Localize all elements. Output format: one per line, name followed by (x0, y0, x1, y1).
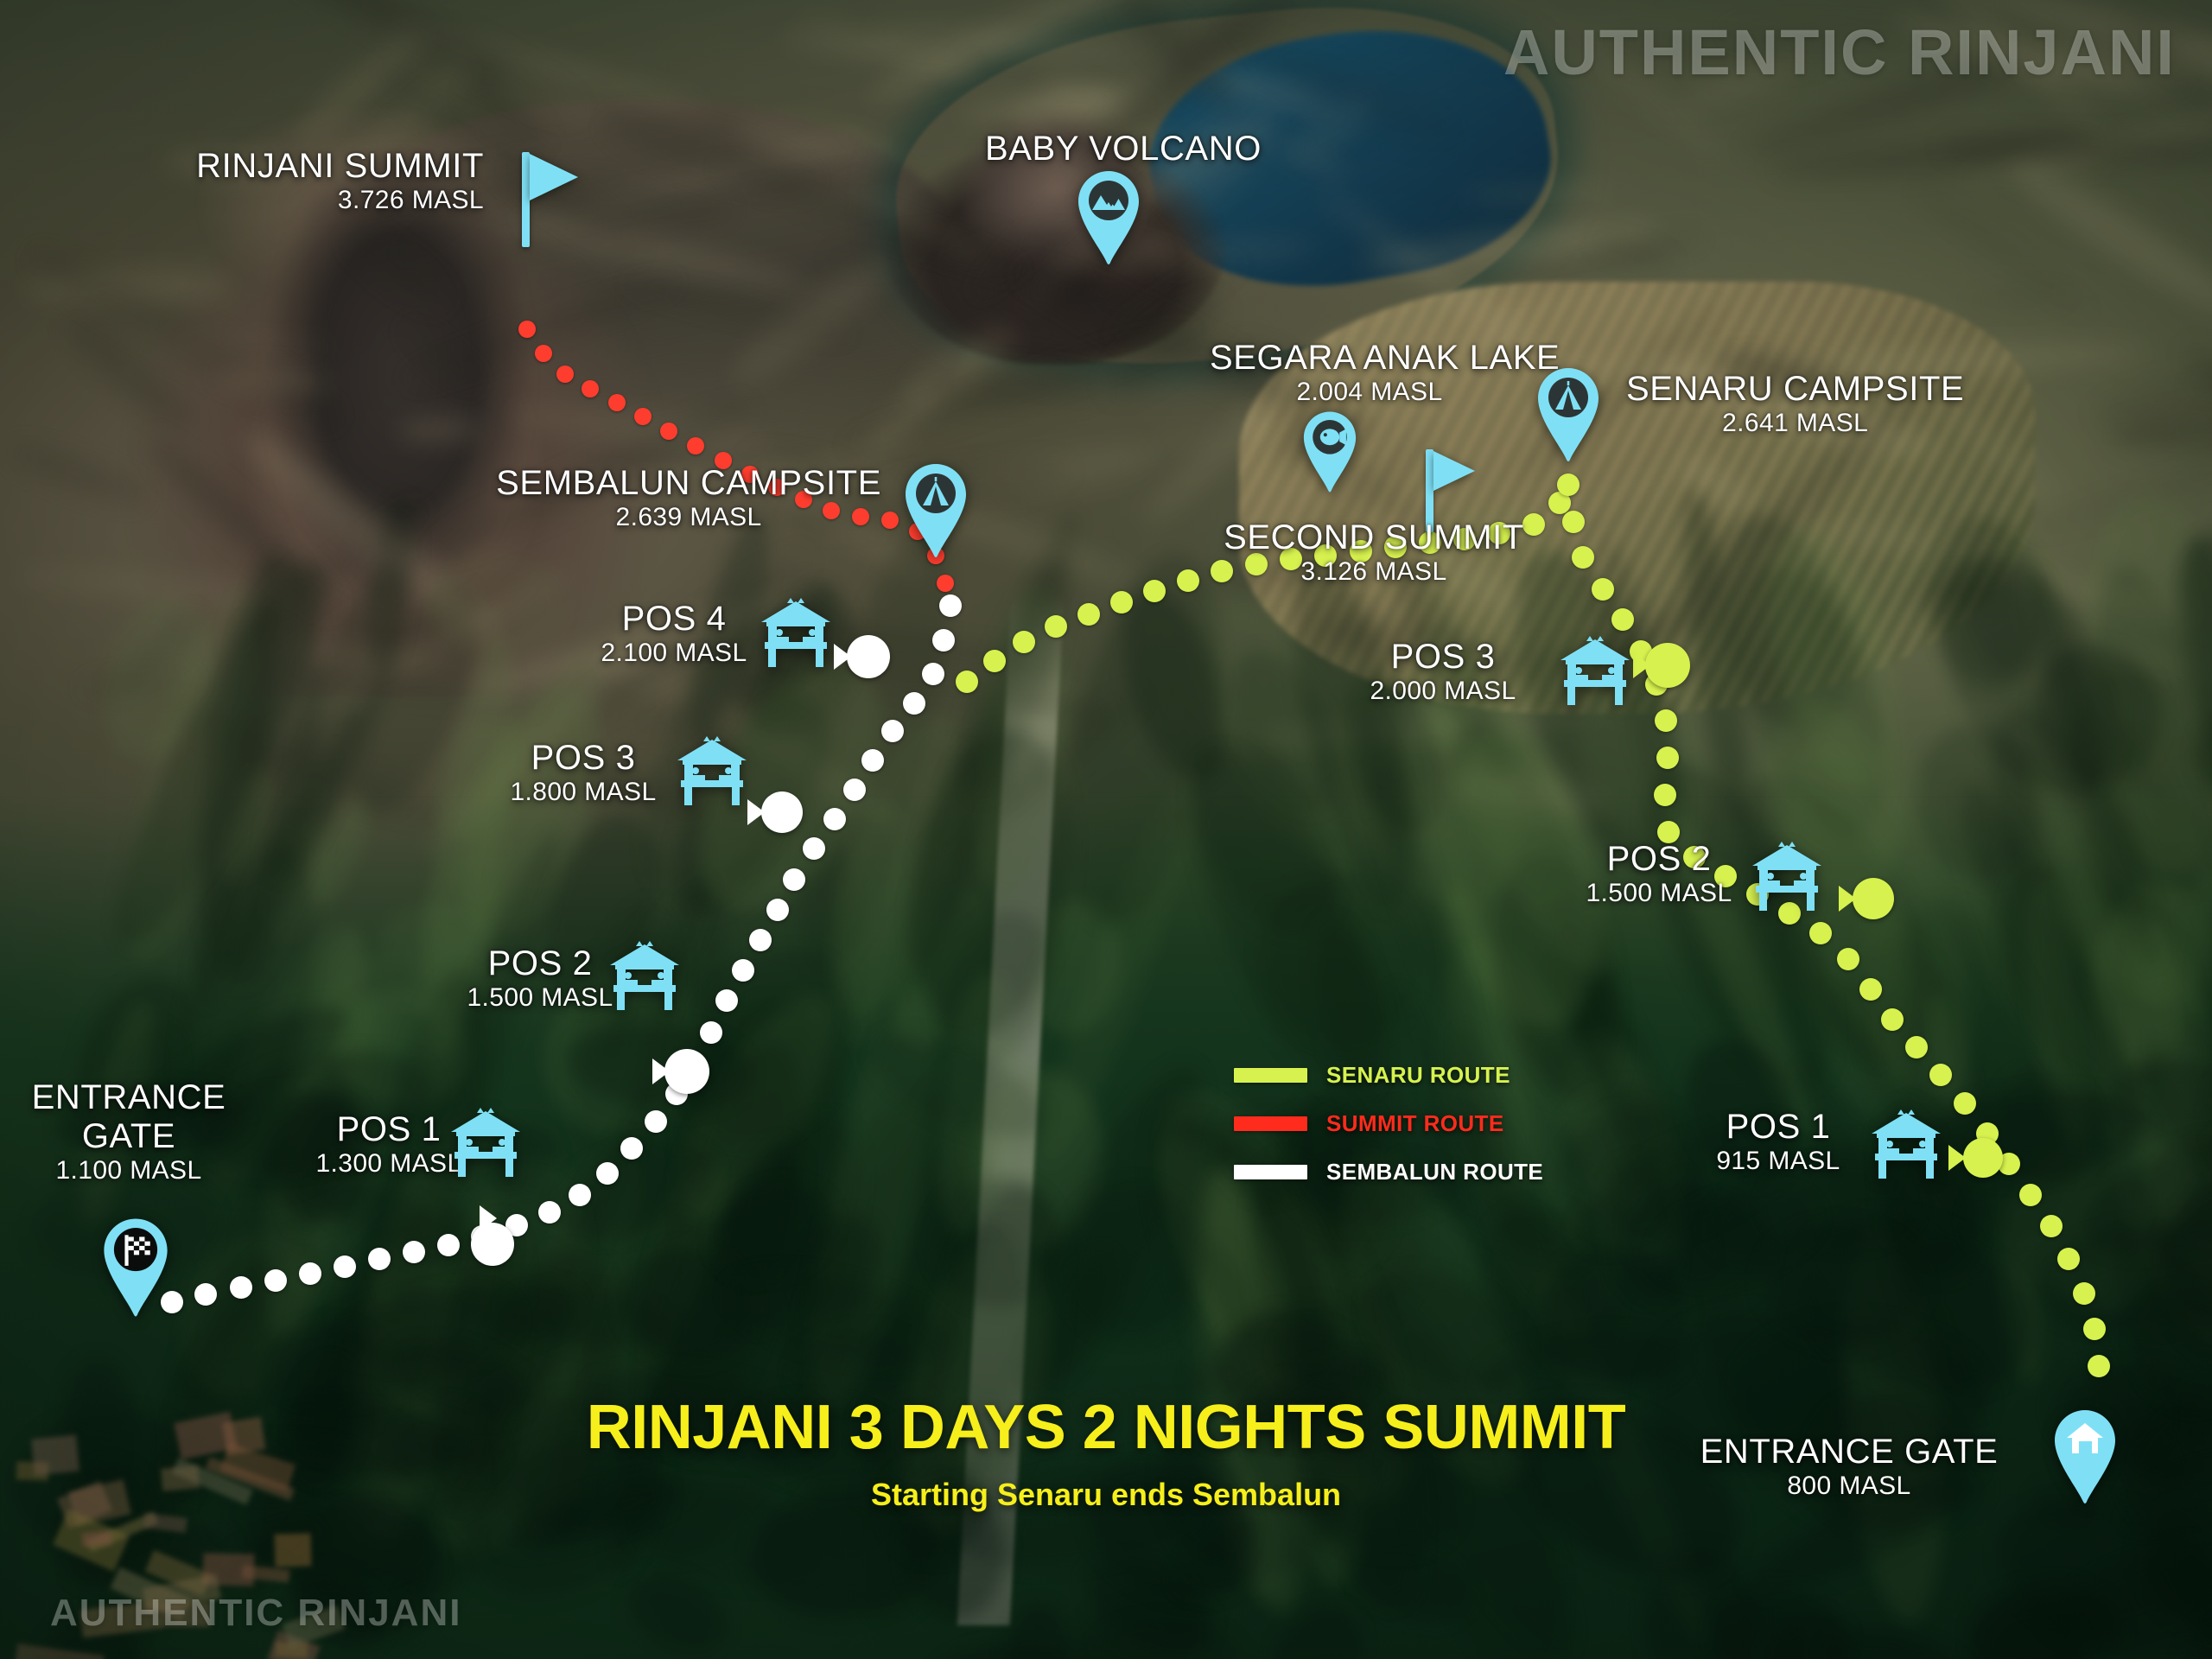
senaru-route-dot (983, 650, 1006, 672)
sembalun-route-dot (732, 959, 754, 982)
mountain-pin-icon[interactable] (1071, 169, 1146, 266)
senaru-route-node-pos2[interactable] (1853, 878, 1894, 919)
map-title-block: RINJANI 3 DAYS 2 NIGHTS SUMMIT Starting … (0, 1392, 2212, 1513)
senaru-route-dot (1572, 546, 1594, 569)
senaru-route-dot (1859, 978, 1882, 1001)
sembalun-route-node-pos3[interactable] (761, 791, 803, 833)
route-legend: SENARU ROUTE SUMMIT ROUTE SEMBALUN ROUTE (1234, 1056, 1543, 1201)
shelter-icon-sembalun-pos1[interactable] (446, 1104, 525, 1179)
sembalun-route-dot (861, 749, 884, 772)
senaru-route-dot (1611, 608, 1634, 631)
sembalun-route-arrow-pos1 (480, 1205, 497, 1231)
senaru-route-dot (1929, 1064, 1952, 1086)
senaru-route-dot (2019, 1184, 2042, 1206)
sembalun-route-dot (939, 594, 962, 617)
legend-swatch-senaru (1234, 1068, 1307, 1083)
summit-route-dot (582, 380, 599, 397)
summit-route-dot (608, 394, 626, 411)
label-sembalun-pos4: POS 4 2.100 MASL (596, 600, 752, 667)
senaru-route-dot (1045, 615, 1067, 638)
summit-route-dot (881, 512, 899, 529)
senaru-route-dot (2040, 1215, 2063, 1237)
label-sembalun-pos2: POS 2 1.500 MASL (454, 944, 626, 1012)
watermark-top-right: AUTHENTIC RINJANI (1503, 16, 2176, 89)
sembalun-route-dot (749, 929, 772, 951)
sembalun-route-dot (264, 1269, 287, 1292)
sembalun-route-dot (843, 779, 866, 801)
senaru-route-dot (1562, 511, 1585, 533)
legend-item-senaru: SENARU ROUTE (1234, 1056, 1543, 1094)
sembalun-route-dot (569, 1184, 591, 1206)
senaru-route-dot (2073, 1282, 2095, 1305)
senaru-route-dot (1654, 784, 1676, 806)
senaru-route-dot (1077, 603, 1100, 626)
sembalun-route-dot (299, 1262, 321, 1285)
legend-item-sembalun: SEMBALUN ROUTE (1234, 1153, 1543, 1191)
senaru-route-dot (2057, 1248, 2080, 1270)
senaru-route-dot (1905, 1036, 1928, 1058)
senaru-route-dot (1656, 747, 1679, 769)
sembalun-route-dot (932, 629, 955, 652)
page-title: RINJANI 3 DAYS 2 NIGHTS SUMMIT (0, 1392, 2212, 1463)
watermark-bottom-left: AUTHENTIC RINJANI (50, 1592, 461, 1635)
sembalun-route-dot (437, 1234, 460, 1256)
senaru-route-dot (2088, 1355, 2110, 1377)
senaru-route-dot (1143, 580, 1166, 602)
sembalun-route-dot (715, 989, 738, 1012)
flag-cloth (530, 154, 578, 200)
fish-pin-icon[interactable] (1298, 410, 1362, 494)
senaru-route-dot (2083, 1318, 2106, 1340)
legend-item-summit: SUMMIT ROUTE (1234, 1104, 1543, 1142)
senaru-route-dot (956, 671, 978, 693)
summit-route-dot (937, 575, 954, 592)
summit-route-dot (518, 321, 536, 338)
senaru-route-arrow-pos3 (1633, 652, 1650, 678)
summit-route-dot (535, 345, 552, 362)
sembalun-route-dot (803, 837, 825, 860)
label-segara-anak-lake: SEGARA ANAK LAKE 2.004 MASL (1210, 339, 1529, 406)
sembalun-route-dot (403, 1241, 425, 1263)
senaru-route-dot (1557, 474, 1580, 496)
shelter-icon-sembalun-pos3[interactable] (672, 733, 752, 807)
page-subtitle: Starting Senaru ends Sembalun (0, 1477, 2212, 1513)
rinjani-summit-flag-icon[interactable] (522, 152, 579, 247)
sembalun-route-dot (334, 1255, 356, 1278)
shelter-icon-senaru-pos2[interactable] (1747, 838, 1827, 912)
senaru-route-dot (1013, 631, 1035, 653)
sembalun-route-dot (700, 1021, 722, 1044)
senaru-route-node-pos1[interactable] (1963, 1138, 2003, 1178)
senaru-route-dot (1177, 569, 1199, 592)
flag-pole (522, 152, 530, 247)
sembalun-route-dot (230, 1276, 252, 1299)
sembalun-route-dot (922, 663, 944, 685)
sembalun-route-dot (881, 720, 904, 742)
shelter-icon-sembalun-pos4[interactable] (756, 594, 836, 669)
label-senaru-pos1: POS 1 915 MASL (1683, 1108, 1873, 1175)
legend-swatch-summit (1234, 1116, 1307, 1131)
label-sembalun-entrance-gate: ENTRANCE GATE 1.100 MASL (12, 1078, 245, 1185)
sembalun-route-dot (596, 1162, 619, 1185)
map-overlay: RINJANI SUMMIT 3.726 MASL BABY VOLCANO S… (0, 0, 2212, 1659)
tent-pin-icon-senaru[interactable] (1531, 366, 1605, 463)
sembalun-route-dot (538, 1201, 561, 1224)
sembalun-route-dot (645, 1110, 667, 1133)
flag-cloth (1433, 451, 1475, 491)
senaru-route-arrow-pos2 (1839, 886, 1856, 912)
summit-route-dot (634, 408, 652, 425)
checkered-flag-pin-icon[interactable] (97, 1217, 175, 1319)
senaru-route-dot (1592, 578, 1614, 601)
shelter-icon-sembalun-pos2[interactable] (605, 938, 684, 1012)
senaru-route-arrow-pos1 (1948, 1145, 1966, 1171)
label-sembalun-campsite: SEMBALUN CAMPSITE 2.639 MASL (496, 464, 881, 531)
summit-route-dot (556, 365, 574, 383)
rinjani-trek-map: RINJANI SUMMIT 3.726 MASL BABY VOLCANO S… (0, 0, 2212, 1659)
summit-route-dot (687, 437, 704, 454)
label-senaru-pos2: POS 2 1.500 MASL (1564, 840, 1754, 907)
senaru-route-dot (1954, 1092, 1976, 1115)
label-senaru-campsite: SENARU CAMPSITE 2.641 MASL (1626, 370, 1964, 437)
label-senaru-pos3: POS 3 2.000 MASL (1348, 638, 1538, 705)
senaru-route-dot (1837, 948, 1859, 970)
sembalun-route-dot (823, 808, 846, 830)
sembalun-route-arrow-pos4 (834, 644, 851, 670)
sembalun-route-node-pos2[interactable] (664, 1049, 709, 1094)
summit-route-dot (660, 423, 677, 440)
senaru-route-dot (1809, 922, 1832, 944)
senaru-route-dot (1881, 1008, 1904, 1031)
sembalun-route-dot (368, 1248, 391, 1270)
legend-swatch-sembalun (1234, 1165, 1307, 1179)
sembalun-route-node-pos4[interactable] (847, 635, 890, 678)
senaru-route-dot (1110, 591, 1133, 613)
sembalun-route-dot (194, 1283, 217, 1306)
sembalun-route-arrow-pos2 (652, 1058, 670, 1084)
label-baby-volcano: BABY VOLCANO (985, 130, 1236, 168)
sembalun-route-dot (903, 692, 925, 715)
sembalun-route-dot (766, 899, 789, 921)
tent-pin-icon-sembalun[interactable] (899, 462, 973, 559)
senaru-route-dot (1655, 709, 1677, 732)
shelter-icon-senaru-pos1[interactable] (1866, 1106, 1946, 1180)
senaru-route-node-pos3[interactable] (1645, 643, 1690, 688)
label-rinjani-summit: RINJANI SUMMIT 3.726 MASL (196, 147, 484, 214)
shelter-icon-senaru-pos3[interactable] (1555, 632, 1635, 707)
label-second-summit: SECOND SUMMIT 3.126 MASL (1205, 518, 1542, 586)
sembalun-route-dot (620, 1137, 643, 1160)
sembalun-route-dot (783, 868, 805, 891)
label-sembalun-pos3: POS 3 1.800 MASL (497, 739, 670, 806)
